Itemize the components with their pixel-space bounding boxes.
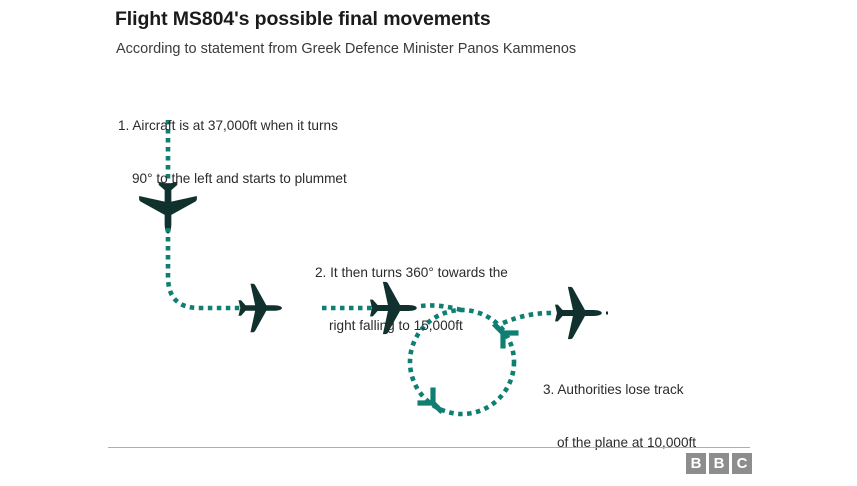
annotation-1-line-1: 1. Aircraft is at 37,000ft when it turns	[118, 117, 347, 135]
annotation-3-line-2: of the plane at 10,000ft	[543, 434, 696, 452]
annotation-3-line-1: 3. Authorities lose track	[543, 381, 696, 399]
aircraft-level-1-icon	[239, 284, 282, 332]
bbc-logo-letter-3: C	[732, 453, 752, 474]
annotation-2-line-1: 2. It then turns 360° towards the	[315, 264, 508, 282]
dotted-path-loop-exit	[503, 313, 552, 323]
dotted-path-turn-left	[168, 228, 240, 308]
annotation-1-line-2: 90° to the left and starts to plummet	[118, 170, 347, 188]
annotation-2: 2. It then turns 360° towards the right …	[315, 229, 508, 369]
footer-divider	[108, 447, 750, 448]
bbc-logo-letter-1: B	[686, 453, 706, 474]
bbc-logo-letter-2: B	[709, 453, 729, 474]
infographic-container: Flight MS804's possible final movements …	[0, 0, 857, 482]
annotation-1: 1. Aircraft is at 37,000ft when it turns…	[118, 82, 347, 222]
aircraft-level-3-icon	[555, 287, 602, 339]
bbc-logo: B B C	[686, 453, 752, 474]
annotation-3: 3. Authorities lose track of the plane a…	[543, 346, 696, 486]
annotation-2-line-2: right falling to 15,000ft	[315, 317, 508, 335]
